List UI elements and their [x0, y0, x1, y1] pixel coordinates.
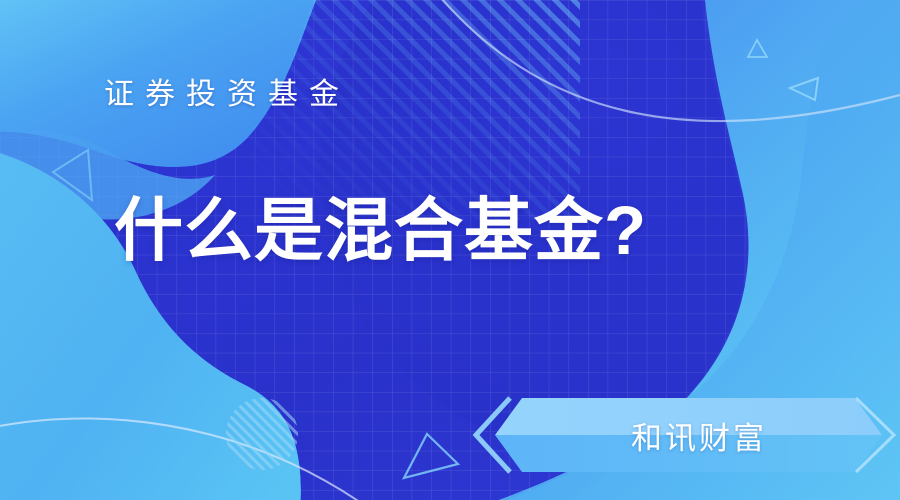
brand-name: 和讯财富 — [470, 392, 900, 478]
headline-text: 什么是混合基金? — [114, 196, 647, 265]
brand-banner: 和讯财富 — [470, 392, 900, 478]
eyebrow-text: 证券投资基金 — [104, 80, 350, 110]
promo-banner-canvas: 和讯财富 证券投资基金 什么是混合基金? — [0, 0, 900, 500]
